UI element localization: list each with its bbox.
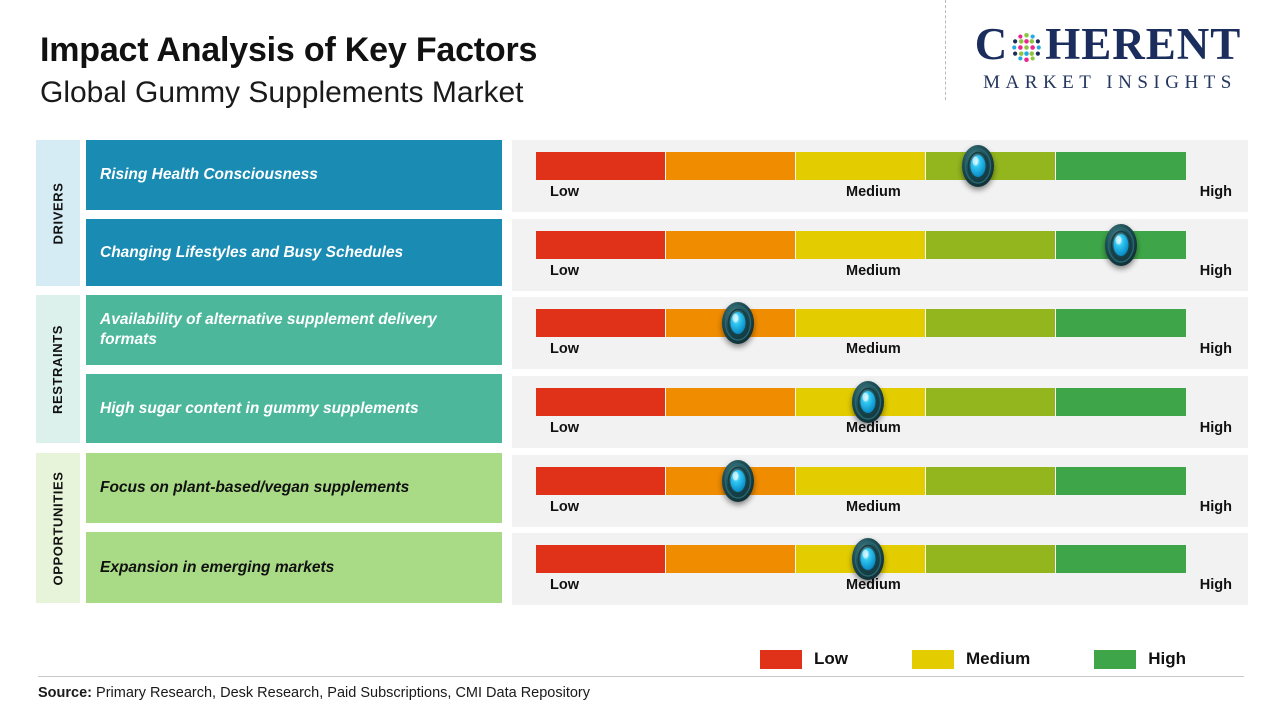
page-title: Impact Analysis of Key Factors [40,30,537,70]
factor-label: Focus on plant-based/vegan supplements [86,453,502,523]
scale-label-high: High [1200,499,1232,515]
category-label-restraints: RESTRAINTS [51,324,66,413]
scale-label-medium: Medium [846,341,901,357]
legend-swatch-medium [912,650,954,669]
impact-bar-segment-4 [926,467,1056,495]
impact-bar-segment-3 [796,467,926,495]
logo-tagline: MARKET INSIGHTS [958,72,1258,94]
scale-label-low: Low [550,341,579,357]
legend-item-high: High [1094,649,1186,669]
scale-label-high: High [1200,184,1232,200]
impact-bar-segment-4 [926,545,1056,573]
category-band-opportunities: OPPORTUNITIES [36,453,80,603]
impact-marker[interactable] [955,143,1001,189]
impact-bar [536,467,1186,495]
scale-labels: LowMediumHigh [536,499,1232,521]
factor-text: Changing Lifestyles and Busy Schedules [100,243,403,263]
impact-bar-segment-2 [666,545,796,573]
logo-letter-c: C [975,22,1009,67]
factor-label: Expansion in emerging markets [86,532,502,603]
brand-logo: C [958,22,1258,94]
factor-text: Expansion in emerging markets [100,558,334,578]
impact-marker[interactable] [845,379,891,425]
impact-marker[interactable] [845,536,891,582]
scale-labels: LowMediumHigh [536,341,1232,363]
impact-bar-segment-1 [536,467,666,495]
factor-label: Rising Health Consciousness [86,140,502,210]
gauge-row: LowMediumHigh [512,140,1248,212]
impact-bar-segment-2 [666,388,796,416]
legend-label-high: High [1148,649,1186,669]
legend-item-low: Low [760,649,848,669]
logo-wordmark: C [958,22,1258,67]
factor-label: Changing Lifestyles and Busy Schedules [86,219,502,286]
impact-bar-segment-5 [1056,152,1186,180]
impact-bar [536,231,1186,259]
impact-marker[interactable] [1098,222,1144,268]
source-text: Primary Research, Desk Research, Paid Su… [92,685,590,701]
scale-label-medium: Medium [846,263,901,279]
scale-label-low: Low [550,499,579,515]
scale-label-high: High [1200,577,1232,593]
impact-bar-segment-5 [1056,467,1186,495]
scale-label-low: Low [550,420,579,436]
source-label: Source: [38,685,92,701]
factor-label: High sugar content in gummy supplements [86,374,502,443]
scale-label-medium: Medium [846,499,901,515]
impact-bar [536,309,1186,337]
impact-marker[interactable] [715,458,761,504]
gauge-row: LowMediumHigh [512,376,1248,448]
impact-bar-segment-4 [926,309,1056,337]
impact-bar [536,152,1186,180]
impact-bar-segment-3 [796,309,926,337]
impact-bar-segment-3 [796,152,926,180]
scale-label-low: Low [550,184,579,200]
impact-bar-segment-2 [666,152,796,180]
footer-divider [38,676,1244,677]
title-block: Impact Analysis of Key Factors Global Gu… [40,30,537,112]
gauge-row: LowMediumHigh [512,533,1248,605]
impact-bar-segment-5 [1056,388,1186,416]
factor-label: Availability of alternative supplement d… [86,295,502,365]
factor-text: Focus on plant-based/vegan supplements [100,478,409,498]
impact-bar-segment-1 [536,309,666,337]
category-band-restraints: RESTRAINTS [36,295,80,443]
factor-text: Rising Health Consciousness [100,165,318,185]
logo-divider [945,0,946,100]
legend-swatch-low [760,650,802,669]
impact-bar-segment-3 [796,231,926,259]
impact-bar-segment-1 [536,388,666,416]
scale-label-high: High [1200,263,1232,279]
header: Impact Analysis of Key Factors Global Gu… [0,0,1280,132]
factor-text: High sugar content in gummy supplements [100,399,419,419]
scale-label-low: Low [550,577,579,593]
page-subtitle: Global Gummy Supplements Market [40,74,537,112]
factor-text: Availability of alternative supplement d… [100,310,488,350]
scale-labels: LowMediumHigh [536,184,1232,206]
globe-dots-icon [1009,28,1044,63]
impact-bar-segment-1 [536,545,666,573]
legend-item-medium: Medium [912,649,1030,669]
impact-matrix: DRIVERS RESTRAINTS OPPORTUNITIES Rising … [0,140,1280,610]
legend-label-low: Low [814,649,848,669]
scale-label-high: High [1200,420,1232,436]
impact-bar-segment-1 [536,152,666,180]
logo-letters-herent: HERENT [1045,22,1241,67]
scale-label-medium: Medium [846,184,901,200]
impact-bar-segment-4 [926,388,1056,416]
legend-swatch-high [1094,650,1136,669]
impact-bar-segment-5 [1056,545,1186,573]
legend: Low Medium High [760,645,1220,673]
gauge-row: LowMediumHigh [512,219,1248,291]
gauge-row: LowMediumHigh [512,455,1248,527]
impact-bar-segment-4 [926,231,1056,259]
category-label-drivers: DRIVERS [51,182,66,244]
gauge-row: LowMediumHigh [512,297,1248,369]
impact-marker[interactable] [715,300,761,346]
legend-label-medium: Medium [966,649,1030,669]
impact-bar-segment-1 [536,231,666,259]
category-band-drivers: DRIVERS [36,140,80,286]
impact-bar-segment-2 [666,231,796,259]
category-label-opportunities: OPPORTUNITIES [51,471,66,585]
impact-bar-segment-5 [1056,309,1186,337]
scale-label-high: High [1200,341,1232,357]
scale-label-low: Low [550,263,579,279]
source-note: Source: Primary Research, Desk Research,… [38,685,590,701]
